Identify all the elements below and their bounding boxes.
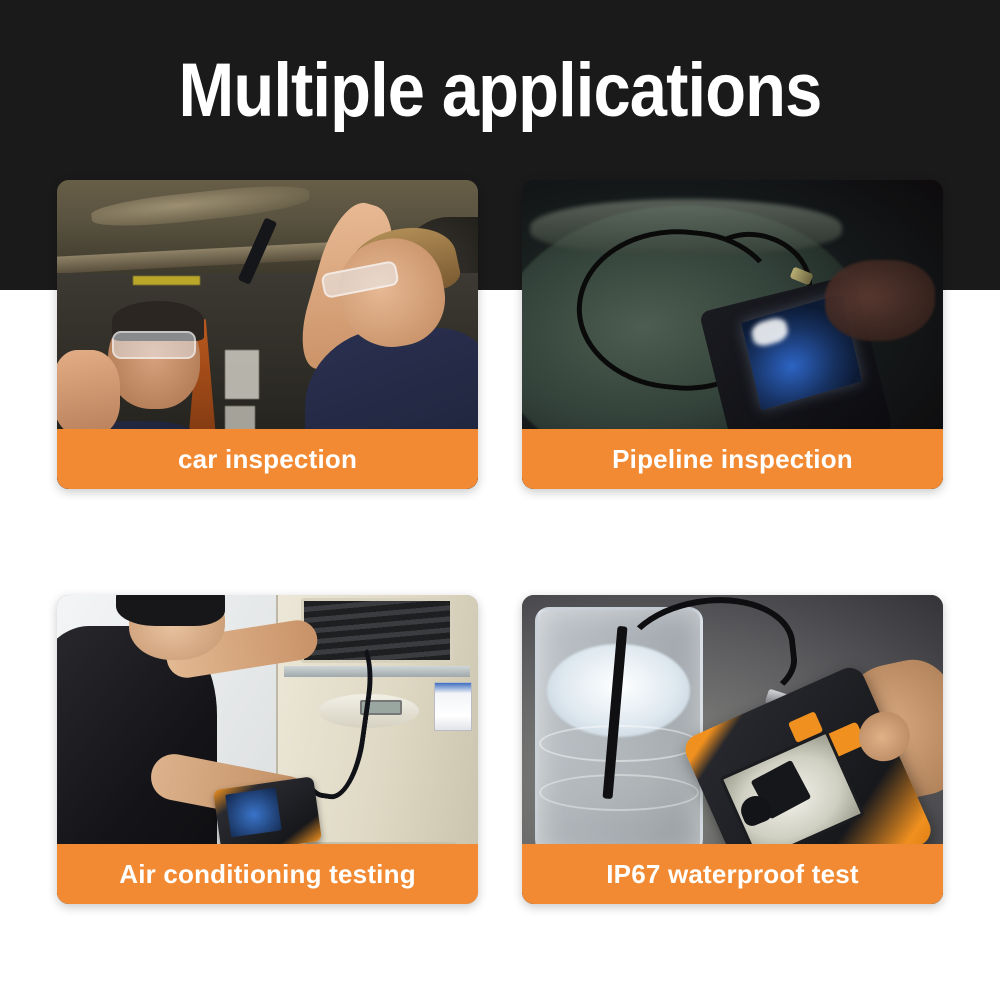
card-caption: IP67 waterproof test <box>522 844 943 904</box>
technician-hair <box>116 595 225 626</box>
application-card-ip67-waterproof-test[interactable]: IP67 waterproof test <box>522 595 943 904</box>
page-title: Multiple applications <box>60 48 940 134</box>
endoscope-device-screen <box>225 788 281 838</box>
marketing-page: Multiple applications car inspection <box>0 0 1000 1000</box>
card-caption: car inspection <box>57 429 478 489</box>
application-card-pipeline-inspection[interactable]: Pipeline inspection <box>522 180 943 489</box>
application-card-air-conditioning-testing[interactable]: Air conditioning testing <box>57 595 478 904</box>
safety-goggles-senior <box>112 331 196 359</box>
container-ridge-upper <box>539 725 699 762</box>
application-card-car-inspection[interactable]: car inspection <box>57 180 478 489</box>
garage-sign-upper <box>225 350 259 399</box>
card-caption: Air conditioning testing <box>57 844 478 904</box>
card-caption: Pipeline inspection <box>522 429 943 489</box>
energy-label-sticker <box>434 682 472 731</box>
container-ridge-lower <box>539 774 699 811</box>
operator-hand <box>825 260 934 340</box>
garage-yellow-marking <box>133 276 200 285</box>
mechanic-senior-hand <box>57 350 120 437</box>
